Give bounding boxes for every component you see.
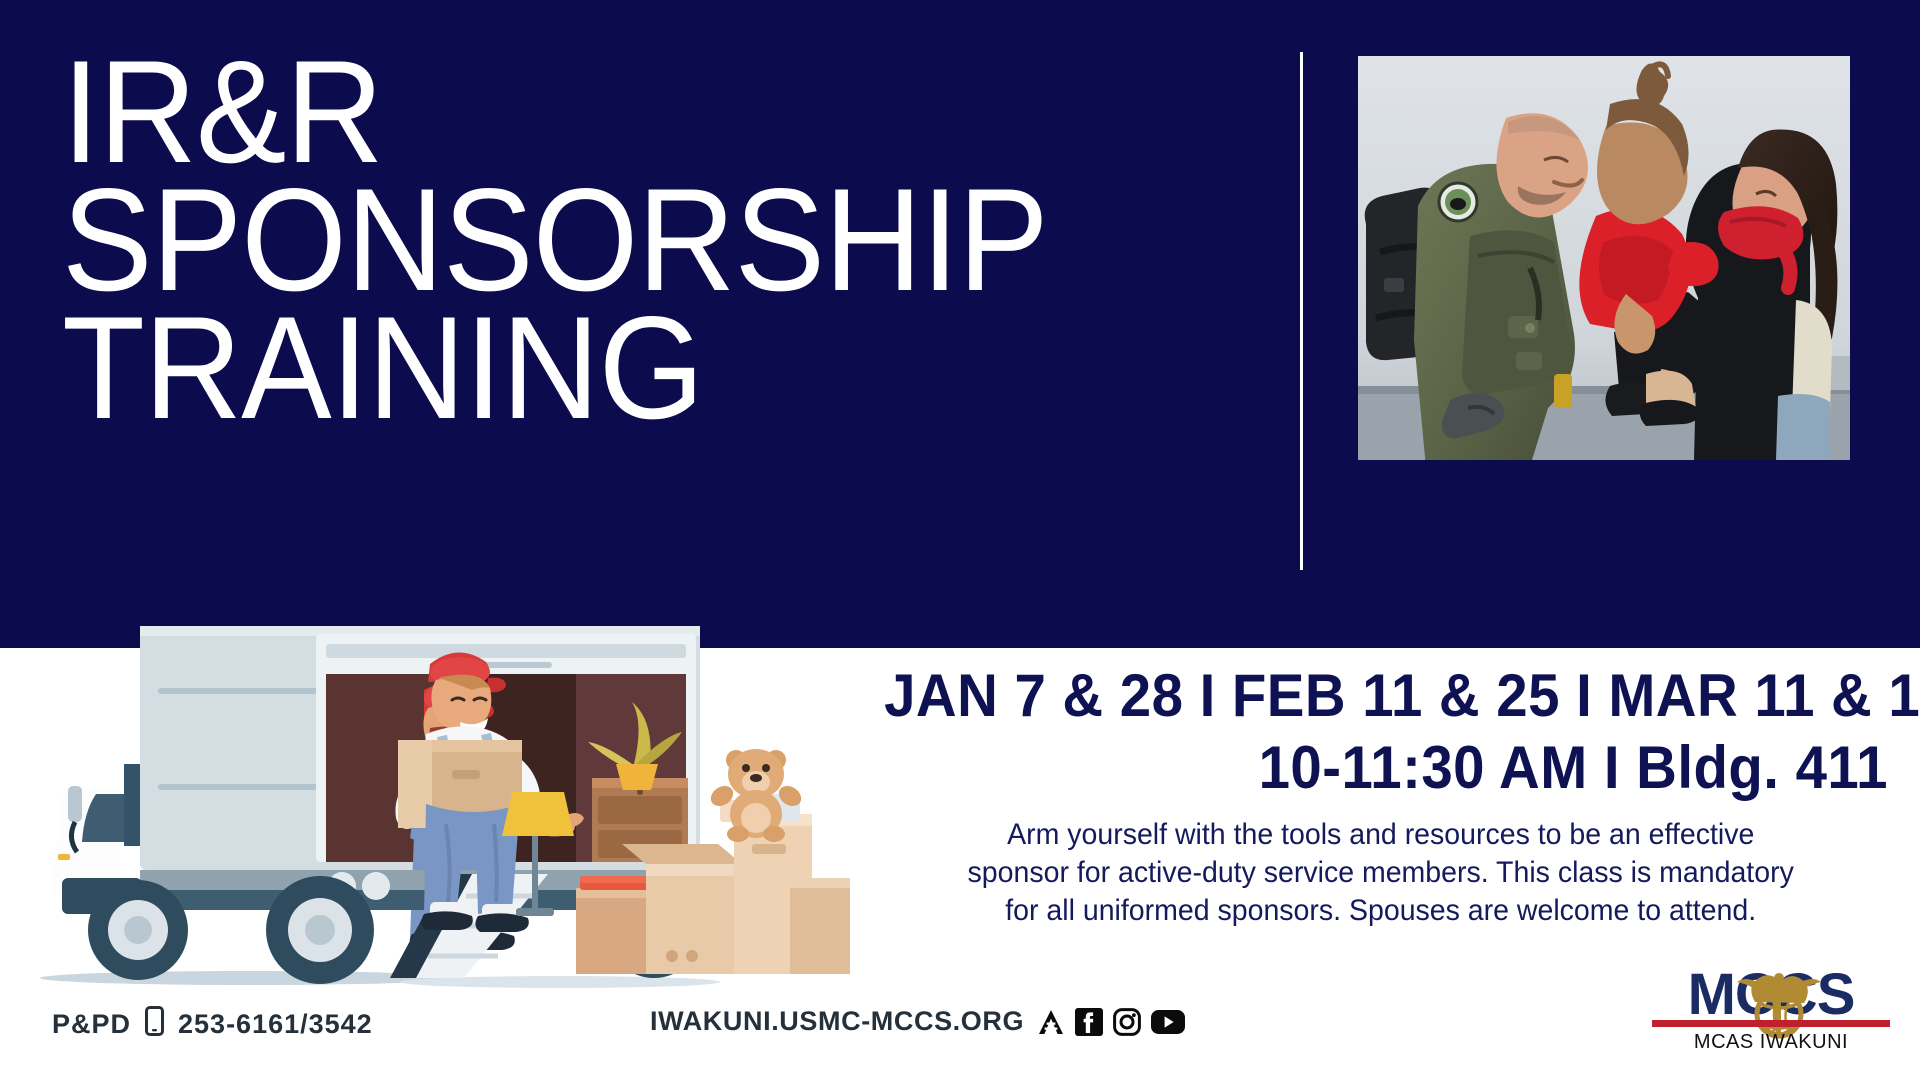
event-dates: JAN 7 & 28 I FEB 11 & 25 I MAR 11 & 18: [884, 660, 1888, 732]
app-a-icon[interactable]: [1037, 1008, 1065, 1036]
flyer-canvas: IR&R SPONSORSHIP TRAINING: [0, 0, 1920, 1080]
phone-number[interactable]: 253-6161/3542: [178, 1009, 373, 1040]
event-details: JAN 7 & 28 I FEB 11 & 25 I MAR 11 & 18 1…: [820, 660, 1888, 930]
title-line-2: SPONSORSHIP: [62, 176, 1159, 304]
department-label: P&PD: [52, 1009, 131, 1040]
logo-red-bar: [1652, 1020, 1890, 1027]
moving-illustration-art: [20, 578, 850, 998]
mccs-logo: MCCS MCAS IWAKUNI: [1642, 960, 1900, 1056]
hero-divider: [1300, 52, 1303, 570]
title-line-1: IR&R: [62, 48, 1159, 176]
youtube-icon[interactable]: [1151, 1009, 1185, 1035]
website-url[interactable]: IWAKUNI.USMC-MCCS.ORG: [650, 1006, 1024, 1037]
mccs-tagline: MCAS IWAKUNI: [1694, 1031, 1848, 1053]
instagram-icon[interactable]: [1113, 1008, 1141, 1036]
description-line-3: for all uniformed sponsors. Spouses are …: [873, 892, 1888, 930]
title-line-3: TRAINING: [62, 304, 1159, 432]
footer-contact: P&PD 253-6161/3542: [52, 1006, 373, 1043]
footer-web: IWAKUNI.USMC-MCCS.ORG: [650, 1006, 1185, 1037]
facebook-icon[interactable]: [1075, 1008, 1103, 1036]
moving-illustration: [20, 578, 850, 998]
mobile-phone-icon: [145, 1006, 164, 1043]
event-description: Arm yourself with the tools and resource…: [873, 816, 1888, 930]
reunion-photo: [1358, 56, 1850, 460]
description-line-2: sponsor for active-duty service members.…: [873, 854, 1888, 892]
page-title: IR&R SPONSORSHIP TRAINING: [62, 48, 1242, 432]
description-line-1: Arm yourself with the tools and resource…: [873, 816, 1888, 854]
mccs-logo-art: MCCS MCAS IWAKUNI: [1642, 960, 1900, 1056]
reunion-photo-art: [1358, 56, 1850, 460]
social-links: [1037, 1008, 1185, 1036]
event-time-location: 10-11:30 AM I Bldg. 411: [884, 732, 1888, 804]
